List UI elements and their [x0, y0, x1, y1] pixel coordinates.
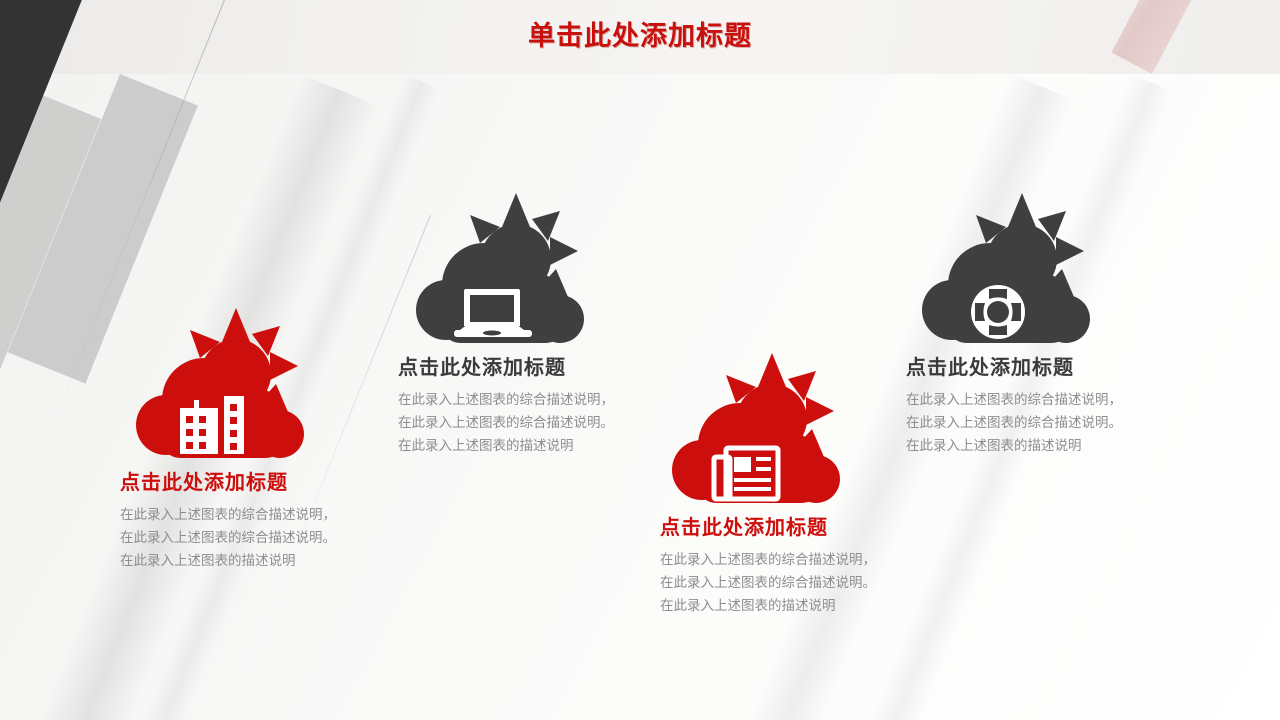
decorative-grey-stripe: [0, 74, 101, 397]
cloud-sun-newspaper-icon: [648, 345, 838, 505]
content-block-4[interactable]: 点击此处添加标题 在此录入上述图表的综合描述说明， 在此录入上述图表的综合描述说…: [898, 185, 1122, 457]
block-3-text: 点击此处添加标题 在此录入上述图表的综合描述说明， 在此录入上述图表的综合描述说…: [648, 511, 876, 617]
body-line: 在此录入上述图表的描述说明: [398, 434, 614, 457]
block-2-body: 在此录入上述图表的综合描述说明， 在此录入上述图表的综合描述说明。 在此录入上述…: [398, 388, 614, 457]
block-1-text: 点击此处添加标题 在此录入上述图表的综合描述说明， 在此录入上述图表的综合描述说…: [112, 466, 336, 572]
block-4-body: 在此录入上述图表的综合描述说明， 在此录入上述图表的综合描述说明。 在此录入上述…: [906, 388, 1122, 457]
body-line: 在此录入上述图表的综合描述说明，: [398, 388, 614, 411]
block-2-text: 点击此处添加标题 在此录入上述图表的综合描述说明， 在此录入上述图表的综合描述说…: [392, 351, 614, 457]
body-line: 在此录入上述图表的描述说明: [906, 434, 1122, 457]
body-line: 在此录入上述图表的描述说明: [120, 549, 336, 572]
cloud-sun-building-icon: [112, 300, 302, 460]
body-line: 在此录入上述图表的综合描述说明，: [120, 503, 336, 526]
body-line: 在此录入上述图表的描述说明: [660, 594, 876, 617]
content-block-1[interactable]: 点击此处添加标题 在此录入上述图表的综合描述说明， 在此录入上述图表的综合描述说…: [112, 300, 336, 572]
content-block-2[interactable]: 点击此处添加标题 在此录入上述图表的综合描述说明， 在此录入上述图表的综合描述说…: [392, 185, 614, 457]
cloud-sun-laptop-icon: [392, 185, 582, 345]
block-4-text: 点击此处添加标题 在此录入上述图表的综合描述说明， 在此录入上述图表的综合描述说…: [898, 351, 1122, 457]
body-line: 在此录入上述图表的综合描述说明。: [120, 526, 336, 549]
body-line: 在此录入上述图表的综合描述说明，: [660, 548, 876, 571]
body-line: 在此录入上述图表的综合描述说明，: [906, 388, 1122, 411]
body-line: 在此录入上述图表的综合描述说明。: [398, 411, 614, 434]
slide-canvas: 单击此处添加标题: [0, 0, 1280, 720]
content-block-3[interactable]: 点击此处添加标题 在此录入上述图表的综合描述说明， 在此录入上述图表的综合描述说…: [648, 345, 876, 617]
cloud-sun-lifebuoy-icon: [898, 185, 1088, 345]
block-3-body: 在此录入上述图表的综合描述说明， 在此录入上述图表的综合描述说明。 在此录入上述…: [660, 548, 876, 617]
slide-title: 单击此处添加标题: [0, 14, 1280, 53]
block-1-body: 在此录入上述图表的综合描述说明， 在此录入上述图表的综合描述说明。 在此录入上述…: [120, 503, 336, 572]
body-line: 在此录入上述图表的综合描述说明。: [906, 411, 1122, 434]
body-line: 在此录入上述图表的综合描述说明。: [660, 571, 876, 594]
